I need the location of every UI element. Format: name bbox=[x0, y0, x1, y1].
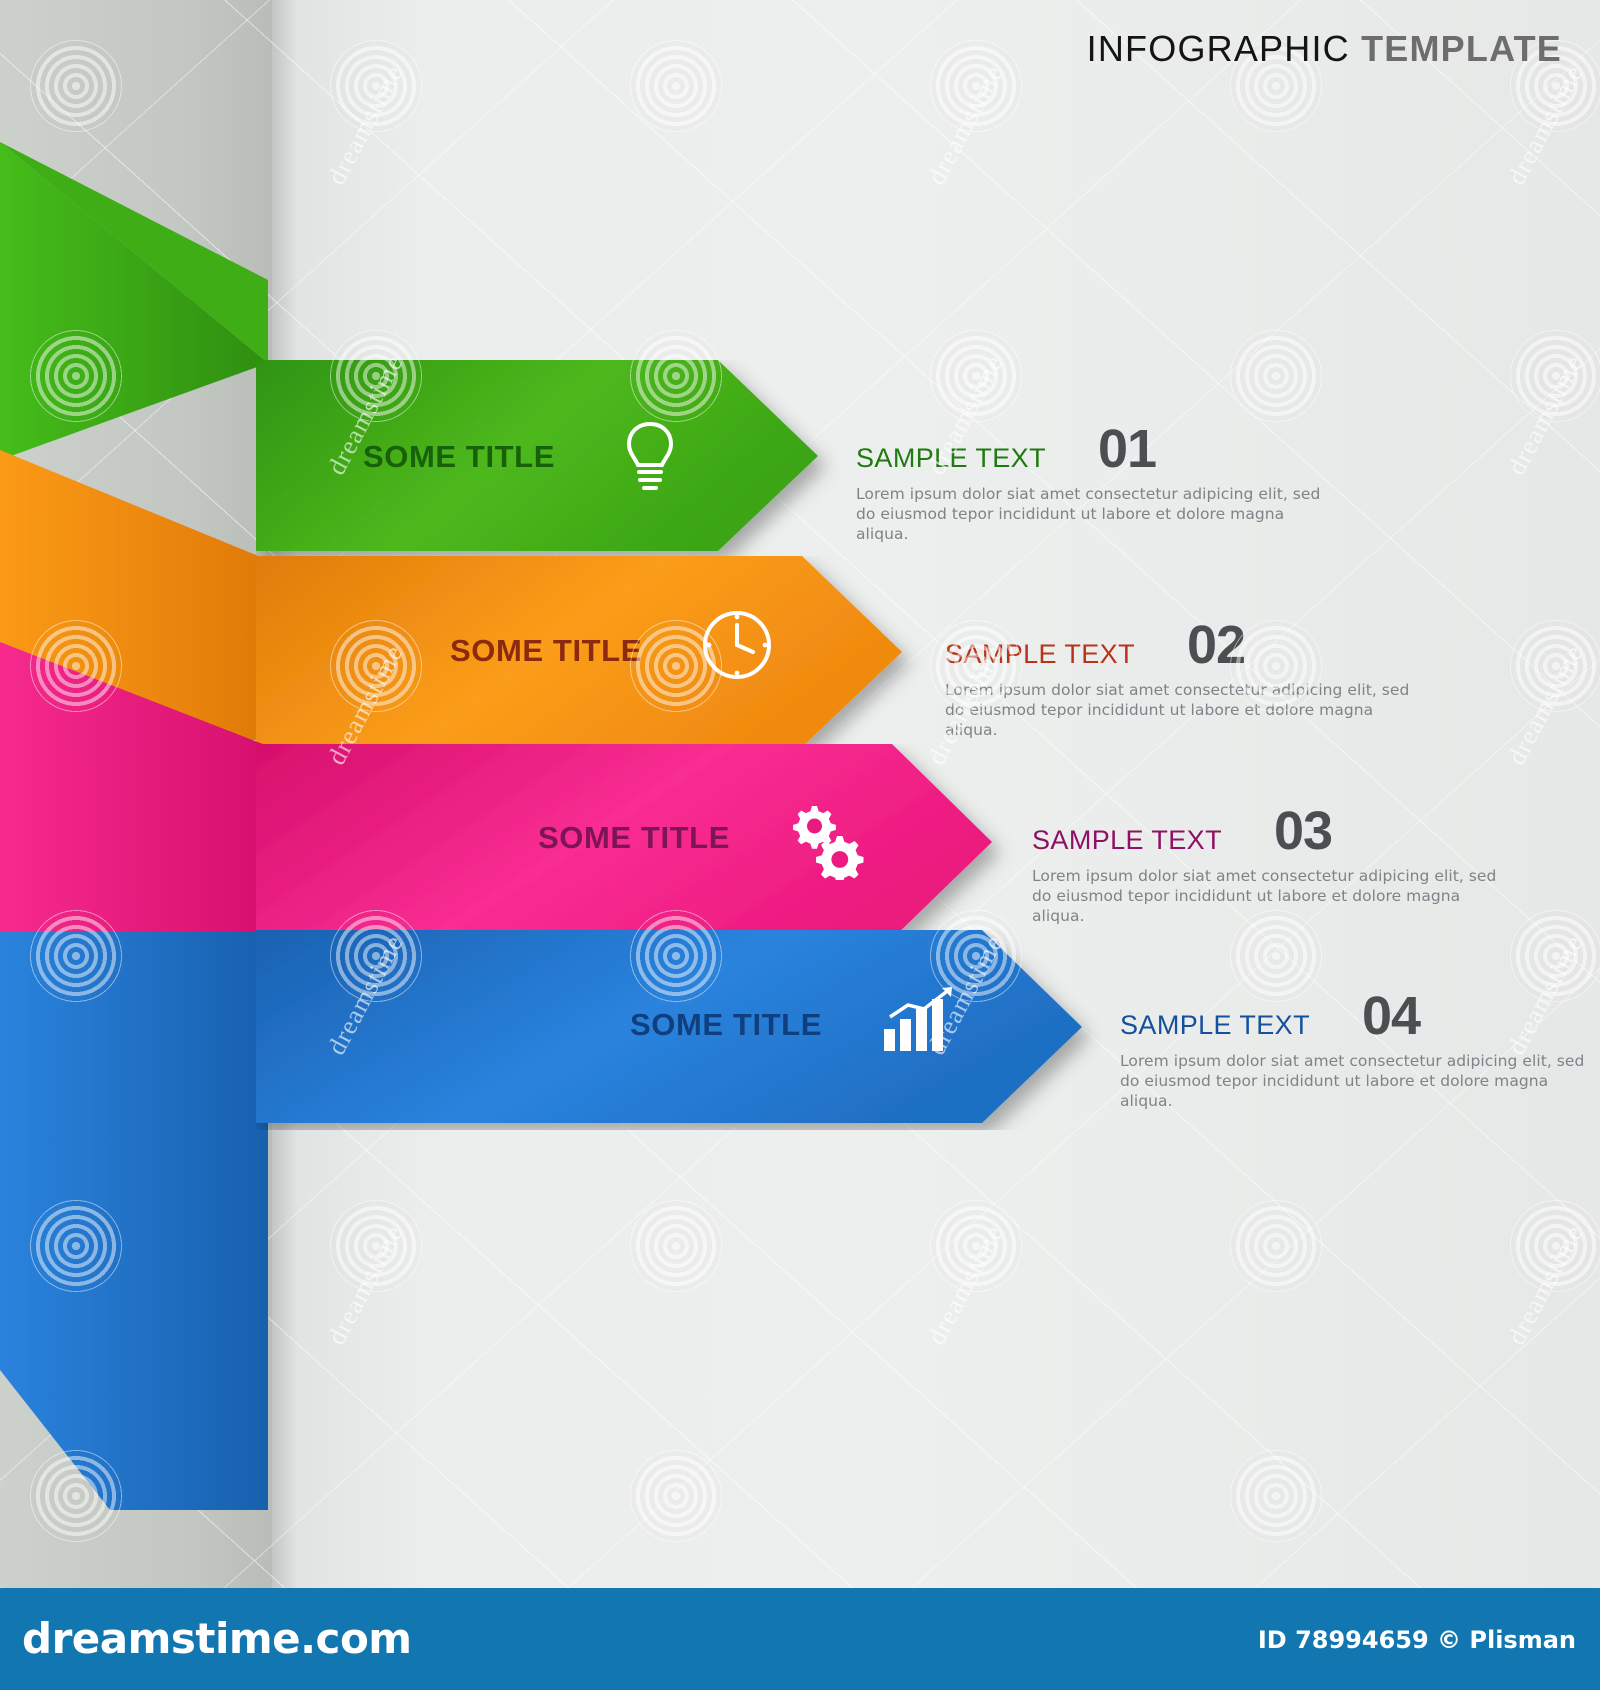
row-title-2: SOME TITLE bbox=[450, 633, 642, 669]
body-text-3: Lorem ipsum dolor siat amet consectetur … bbox=[1032, 866, 1502, 926]
page-title-part2: TEMPLATE bbox=[1361, 28, 1562, 69]
gears-icon bbox=[786, 800, 866, 880]
fold-band-blue bbox=[0, 810, 300, 1510]
page-title-part1: INFOGRAPHIC bbox=[1087, 28, 1350, 69]
body-text-2: Lorem ipsum dolor siat amet consectetur … bbox=[945, 680, 1415, 740]
infographic-canvas: SOME TITLE SAMPLE TEXT01 Lorem ipsum dol… bbox=[0, 0, 1600, 1588]
sample-text-3: SAMPLE TEXT bbox=[1032, 825, 1222, 856]
info-block-3: SAMPLE TEXT03 Lorem ipsum dolor siat ame… bbox=[1032, 800, 1502, 926]
sample-text-4: SAMPLE TEXT bbox=[1120, 1010, 1310, 1041]
row-title-1: SOME TITLE bbox=[363, 439, 555, 475]
footer-bar: dreamstime.com ID 78994659 © Plisman bbox=[0, 1588, 1600, 1690]
row-title-4: SOME TITLE bbox=[630, 1007, 822, 1043]
sample-text-1: SAMPLE TEXT bbox=[856, 443, 1046, 474]
step-number-2: 02 bbox=[1187, 614, 1245, 676]
info-block-1: SAMPLE TEXT01 Lorem ipsum dolor siat ame… bbox=[856, 418, 1326, 544]
row-title-3: SOME TITLE bbox=[538, 820, 730, 856]
body-text-4: Lorem ipsum dolor siat amet consectetur … bbox=[1120, 1051, 1590, 1111]
step-number-3: 03 bbox=[1274, 800, 1332, 862]
page-title: INFOGRAPHIC TEMPLATE bbox=[1087, 28, 1562, 70]
step-number-4: 04 bbox=[1362, 985, 1420, 1047]
dreamstime-logo[interactable]: dreamstime.com bbox=[22, 1614, 412, 1663]
image-credit: ID 78994659 © Plisman bbox=[1258, 1626, 1576, 1654]
arrow-row-1[interactable] bbox=[256, 360, 876, 560]
info-block-2: SAMPLE TEXT02 Lorem ipsum dolor siat ame… bbox=[945, 614, 1415, 740]
info-block-4: SAMPLE TEXT04 Lorem ipsum dolor siat ame… bbox=[1120, 985, 1590, 1111]
step-number-1: 01 bbox=[1098, 418, 1156, 480]
clock-icon bbox=[700, 608, 774, 682]
bar-chart-icon bbox=[880, 985, 958, 1057]
body-text-1: Lorem ipsum dolor siat amet consectetur … bbox=[856, 484, 1326, 544]
lightbulb-icon bbox=[620, 418, 680, 496]
ribbon-layer: SOME TITLE SAMPLE TEXT01 Lorem ipsum dol… bbox=[0, 0, 1600, 1588]
sample-text-2: SAMPLE TEXT bbox=[945, 639, 1135, 670]
